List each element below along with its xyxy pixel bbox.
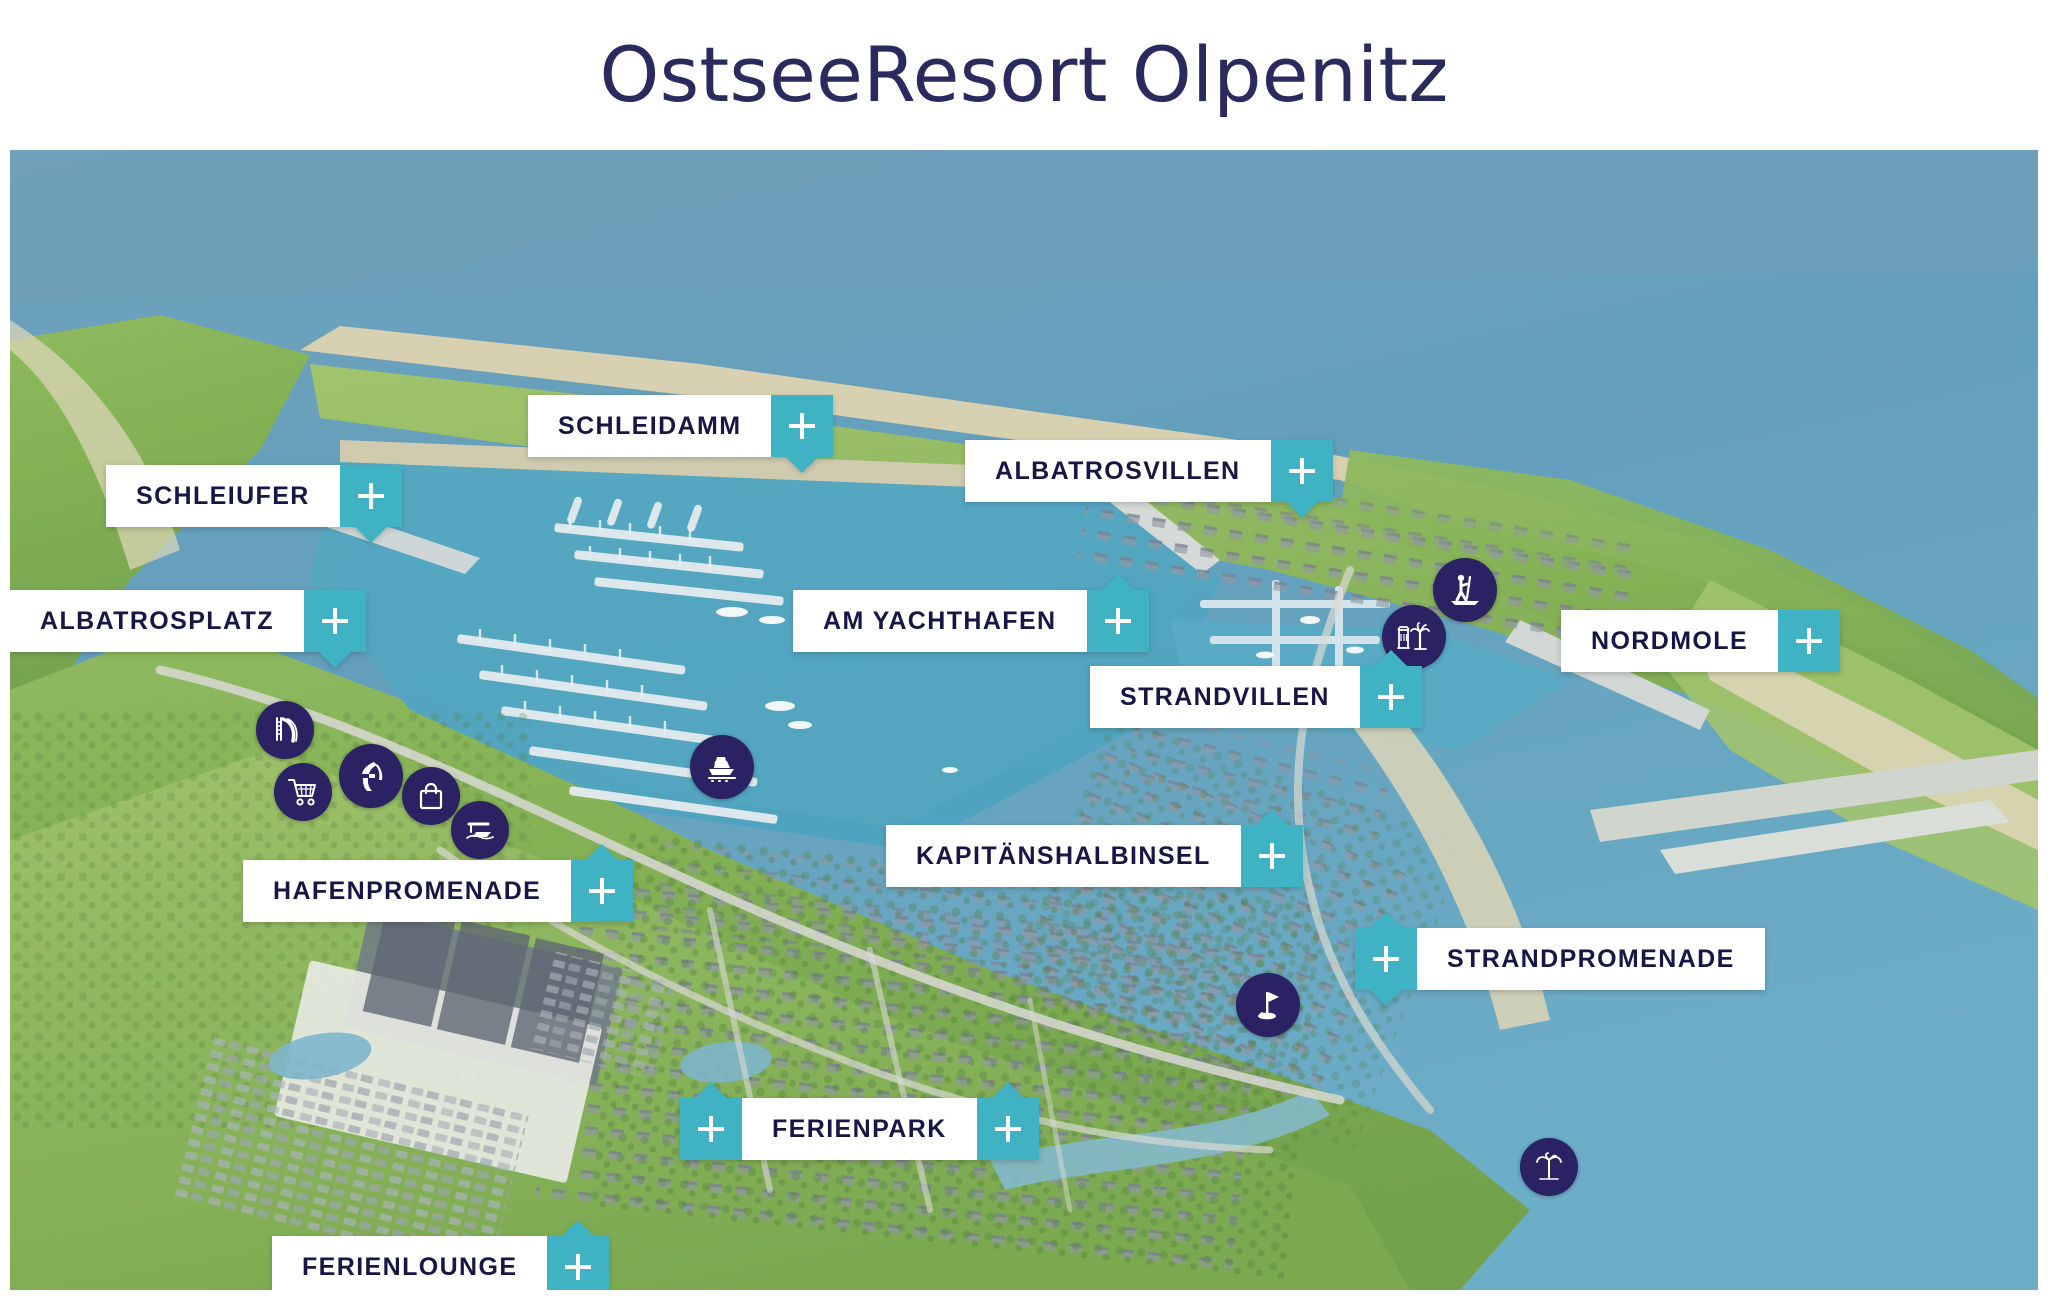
poi-shopping[interactable]	[402, 767, 460, 825]
paddleboard-icon	[1446, 571, 1484, 609]
hotspot-label: KAPITÄNSHALBINSEL	[886, 825, 1241, 887]
shopping-bag-icon	[415, 780, 447, 812]
pointer-down-icon	[1285, 501, 1319, 518]
motor-yacht-icon	[703, 748, 741, 786]
pointer-down-icon	[1369, 989, 1403, 1006]
hotspot-albatrosvillen[interactable]: ALBATROSVILLEN	[965, 440, 1333, 502]
poi-sailing[interactable]	[339, 744, 403, 808]
water-slide-icon	[268, 713, 302, 747]
plus-button[interactable]	[1360, 666, 1422, 728]
plus-button-right[interactable]	[977, 1098, 1039, 1160]
plus-button[interactable]	[771, 395, 833, 457]
hotspot-hafenpromenade[interactable]: HAFENPROMENADE	[243, 860, 633, 922]
hotspot-label: NORDMOLE	[1561, 610, 1778, 672]
plus-button[interactable]	[547, 1236, 609, 1290]
hotspot-strandpromenade[interactable]: STRANDPROMENADE	[1355, 928, 1765, 990]
pointer-up-icon	[1255, 809, 1289, 826]
hotspot-schleiufer[interactable]: SCHLEIUFER	[106, 465, 402, 527]
plus-button[interactable]	[571, 860, 633, 922]
page-title: OstseeResort Olpenitz	[0, 0, 2048, 150]
hotspot-schleidamm[interactable]: SCHLEIDAMM	[528, 395, 833, 457]
hotspot-ferienpark[interactable]: FERIENPARK	[680, 1098, 1039, 1160]
plus-button[interactable]	[1355, 928, 1417, 990]
beach-umbrella-icon	[1533, 1151, 1565, 1183]
golf-flag-icon	[1250, 987, 1286, 1023]
hotspot-kapitaenshalbinsel[interactable]: KAPITÄNSHALBINSEL	[886, 825, 1303, 887]
boat-ramp-icon	[464, 814, 496, 846]
pointer-up-icon	[585, 844, 619, 861]
resort-map[interactable]: SCHLEIDAMM SCHLEIUFER ALBATROSVILLEN ALB…	[10, 150, 2038, 1290]
pointer-down-icon	[785, 456, 819, 473]
poi-beach[interactable]	[1520, 1138, 1578, 1196]
hotspot-ferienlounge[interactable]: FERIENLOUNGE	[272, 1236, 609, 1290]
hotspot-label: AM YACHTHAFEN	[793, 590, 1087, 652]
plus-button[interactable]	[1271, 440, 1333, 502]
pointer-up-icon	[1369, 912, 1403, 929]
shopping-cart-icon	[286, 775, 320, 809]
hotspot-label: FERIENLOUNGE	[272, 1236, 547, 1290]
poi-paddleboard[interactable]	[1433, 558, 1497, 622]
hotspot-am-yachthafen[interactable]: AM YACHTHAFEN	[793, 590, 1149, 652]
hotspot-label: SCHLEIDAMM	[528, 395, 771, 457]
plus-button[interactable]	[1087, 590, 1149, 652]
pointer-up-icon	[694, 1082, 728, 1099]
hotspot-label: FERIENPARK	[742, 1098, 977, 1160]
hotspot-strandvillen[interactable]: STRANDVILLEN	[1090, 666, 1422, 728]
hotspot-albatrosplatz[interactable]: ALBATROSPLATZ	[10, 590, 366, 652]
hotspot-label: STRANDPROMENADE	[1417, 928, 1765, 990]
hotspot-label: STRANDVILLEN	[1090, 666, 1360, 728]
pointer-up-icon	[561, 1220, 595, 1237]
sail-letter-icon	[353, 758, 389, 794]
plus-button[interactable]	[1778, 610, 1840, 672]
pointer-down-icon	[354, 526, 388, 543]
poi-boat-ramp[interactable]	[451, 801, 509, 859]
hotspot-label: ALBATROSVILLEN	[965, 440, 1271, 502]
hotspot-nordmole[interactable]: NORDMOLE	[1561, 610, 1840, 672]
plus-button[interactable]	[304, 590, 366, 652]
pointer-up-icon	[1374, 650, 1408, 667]
pointer-down-icon	[318, 651, 352, 668]
plus-button[interactable]	[340, 465, 402, 527]
poi-motor-yacht[interactable]	[690, 735, 754, 799]
plus-button[interactable]	[1241, 825, 1303, 887]
hotspot-label: HAFENPROMENADE	[243, 860, 571, 922]
hotspot-label: SCHLEIUFER	[106, 465, 340, 527]
plus-button-left[interactable]	[680, 1098, 742, 1160]
hotspot-label: ALBATROSPLATZ	[10, 590, 304, 652]
poi-golf[interactable]	[1236, 973, 1300, 1037]
poi-supermarket[interactable]	[274, 763, 332, 821]
pointer-up-icon	[991, 1082, 1025, 1099]
poi-water-slide[interactable]	[256, 701, 314, 759]
pointer-up-icon	[1101, 574, 1135, 591]
